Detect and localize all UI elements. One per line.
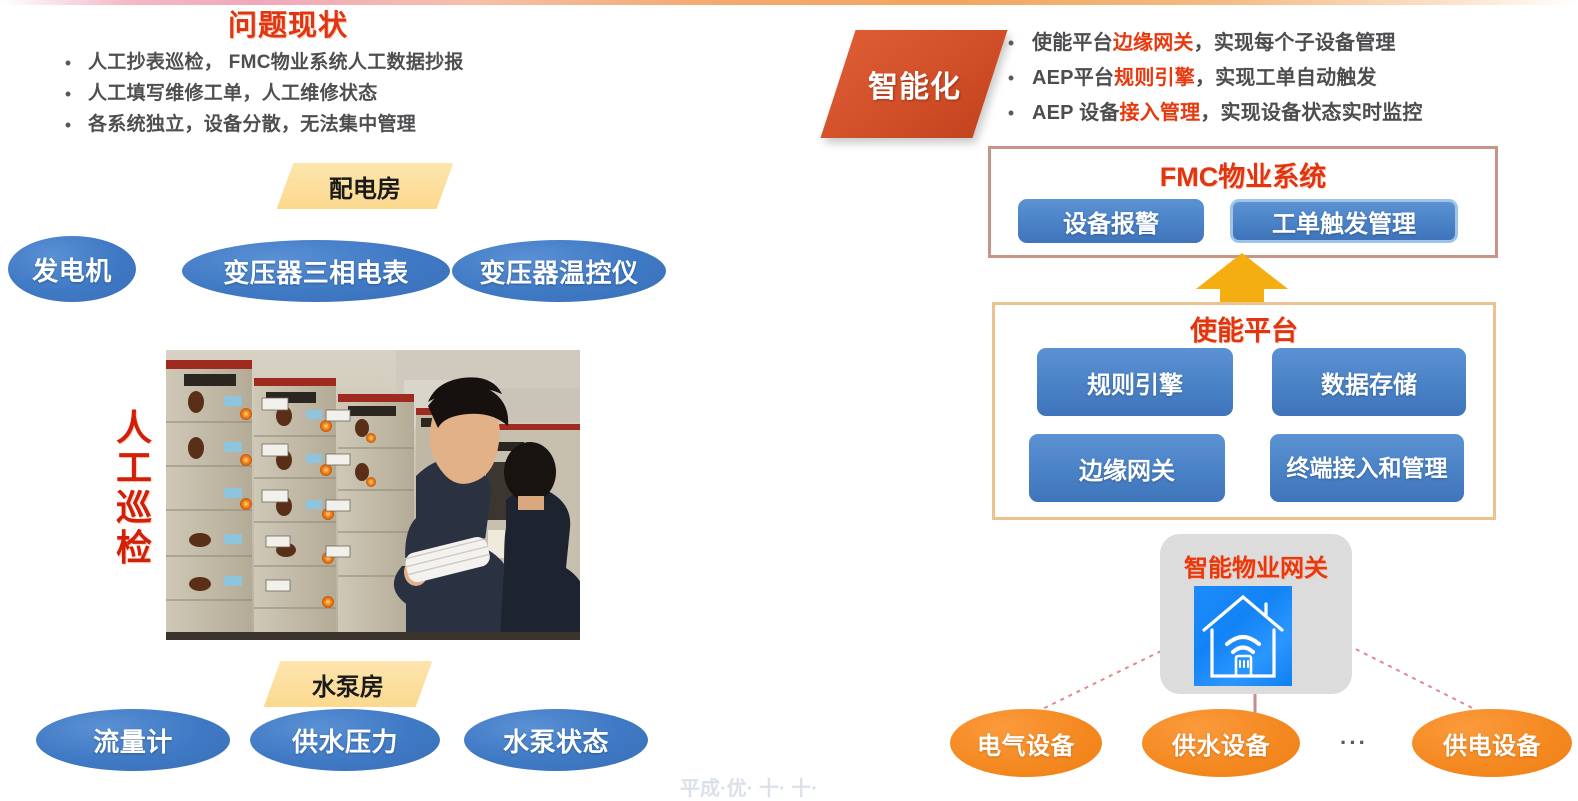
list-item: • 使能平台边缘网关，实现每个子设备管理 bbox=[990, 30, 1550, 56]
list-item-label: AEP 设备接入管理，实现设备状态实时监控 bbox=[1032, 100, 1423, 126]
node-transformer-temp-controller-label: 变压器温控仪 bbox=[479, 253, 638, 290]
node-transformer-3phase-meter-label: 变压器三相电表 bbox=[223, 253, 409, 290]
node-flow-meter-label: 流量计 bbox=[93, 722, 173, 759]
node-pump-status-label: 水泵状态 bbox=[503, 722, 609, 759]
platform-button-edge-gateway-label: 边缘网关 bbox=[1079, 451, 1175, 486]
list-item-post: ，实现每个子设备管理 bbox=[1194, 32, 1396, 54]
list-item-highlight: 规则引擎 bbox=[1114, 67, 1195, 89]
list-item: • 各系统独立，设备分散，无法集中管理 bbox=[48, 114, 668, 136]
fmc-button-workorder-trigger[interactable]: 工单触发管理 bbox=[1230, 199, 1458, 243]
fmc-system-title: FMC物业系统 bbox=[991, 155, 1495, 194]
bullet-dot-icon: • bbox=[48, 114, 88, 136]
enabling-platform-title: 使能平台 bbox=[995, 309, 1493, 348]
smart-home-wifi-icon bbox=[1194, 586, 1292, 686]
node-water-pressure[interactable]: 供水压力 bbox=[250, 709, 440, 771]
tag-power-room-label: 配电房 bbox=[329, 169, 401, 204]
list-item-pre: AEP 设备 bbox=[1032, 102, 1120, 124]
node-transformer-3phase-meter[interactable]: 变压器三相电表 bbox=[182, 240, 450, 302]
bullet-dot-icon: • bbox=[48, 52, 88, 74]
device-water-supply-label: 供水设备 bbox=[1172, 726, 1270, 761]
tag-pump-room: 水泵房 bbox=[264, 661, 433, 707]
problem-bullet-list: • 人工抄表巡检， FMC物业系统人工数据抄报 • 人工填写维修工单，人工维修状… bbox=[48, 52, 668, 145]
list-item-label: 人工抄表巡检， FMC物业系统人工数据抄报 bbox=[88, 52, 464, 74]
bullet-dot-icon: • bbox=[990, 65, 1032, 91]
list-item-pre: 使能平台 bbox=[1032, 32, 1113, 54]
list-item: • 人工抄表巡检， FMC物业系统人工数据抄报 bbox=[48, 52, 668, 74]
platform-button-rule-engine[interactable]: 规则引擎 bbox=[1037, 348, 1233, 416]
node-pump-status[interactable]: 水泵状态 bbox=[464, 709, 648, 771]
solution-bullet-list: • 使能平台边缘网关，实现每个子设备管理 • AEP平台规则引擎，实现工单自动触… bbox=[990, 30, 1550, 135]
intelligent-badge: 智能化 bbox=[820, 30, 1007, 138]
fmc-button-workorder-trigger-label: 工单触发管理 bbox=[1272, 204, 1416, 239]
list-item: • 人工填写维修工单，人工维修状态 bbox=[48, 83, 668, 105]
list-item-highlight: 边缘网关 bbox=[1113, 32, 1194, 54]
list-item-post: ，实现设备状态实时监控 bbox=[1200, 102, 1422, 124]
list-item-label: 各系统独立，设备分散，无法集中管理 bbox=[88, 114, 416, 136]
platform-button-terminal-access[interactable]: 终端接入和管理 bbox=[1270, 434, 1464, 502]
intelligent-badge-label: 智能化 bbox=[868, 62, 961, 106]
node-generator-label: 发电机 bbox=[32, 251, 112, 288]
list-item-pre: AEP平台 bbox=[1032, 67, 1114, 89]
node-transformer-temp-controller[interactable]: 变压器温控仪 bbox=[452, 240, 666, 302]
device-power-supply[interactable]: 供电设备 bbox=[1412, 709, 1572, 777]
list-item-label: 人工填写维修工单，人工维修状态 bbox=[88, 83, 378, 105]
bullet-dot-icon: • bbox=[48, 83, 88, 105]
manual-inspection-char: 检 bbox=[112, 528, 156, 568]
tag-power-room: 配电房 bbox=[277, 163, 454, 209]
manual-inspection-char: 人 bbox=[112, 408, 156, 448]
device-power-supply-label: 供电设备 bbox=[1443, 726, 1541, 761]
fmc-button-device-alarm-label: 设备报警 bbox=[1063, 204, 1159, 239]
node-generator[interactable]: 发电机 bbox=[8, 236, 136, 302]
up-arrow-icon bbox=[1196, 253, 1288, 308]
list-item: • AEP平台规则引擎，实现工单自动触发 bbox=[990, 65, 1550, 91]
slide-canvas: 问题现状 • 人工抄表巡检， FMC物业系统人工数据抄报 • 人工填写维修工单，… bbox=[0, 0, 1578, 791]
fmc-button-device-alarm[interactable]: 设备报警 bbox=[1018, 199, 1204, 243]
platform-button-data-storage[interactable]: 数据存储 bbox=[1272, 348, 1466, 416]
platform-button-terminal-access-label: 终端接入和管理 bbox=[1287, 454, 1448, 482]
platform-button-rule-engine-label: 规则引擎 bbox=[1087, 365, 1183, 400]
manual-inspection-label: 人工巡检 bbox=[112, 408, 156, 568]
list-item-label: AEP平台规则引擎，实现工单自动触发 bbox=[1032, 65, 1377, 91]
bottom-partial-text: 平成·优· 十· 十· bbox=[680, 772, 818, 801]
page-title: 问题现状 bbox=[228, 2, 348, 44]
manual-inspection-char: 工 bbox=[112, 448, 156, 488]
list-item-highlight: 接入管理 bbox=[1120, 102, 1201, 124]
platform-button-edge-gateway[interactable]: 边缘网关 bbox=[1029, 434, 1225, 502]
bullet-dot-icon: • bbox=[990, 100, 1032, 126]
platform-button-data-storage-label: 数据存储 bbox=[1321, 365, 1417, 400]
list-item-label: 使能平台边缘网关，实现每个子设备管理 bbox=[1032, 30, 1396, 56]
manual-inspection-photo bbox=[166, 350, 580, 640]
list-item: • AEP 设备接入管理，实现设备状态实时监控 bbox=[990, 100, 1550, 126]
device-electrical-label: 电气设备 bbox=[977, 726, 1075, 761]
tag-pump-room-label: 水泵房 bbox=[312, 667, 384, 702]
device-water-supply[interactable]: 供水设备 bbox=[1142, 709, 1300, 777]
node-water-pressure-label: 供水压力 bbox=[292, 722, 398, 759]
node-flow-meter[interactable]: 流量计 bbox=[36, 709, 230, 771]
smart-gateway-title: 智能物业网关 bbox=[1150, 548, 1362, 583]
devices-ellipsis: ··· bbox=[1340, 730, 1368, 756]
list-item-post: ，实现工单自动触发 bbox=[1195, 67, 1377, 89]
manual-inspection-char: 巡 bbox=[112, 488, 156, 528]
device-electrical[interactable]: 电气设备 bbox=[950, 709, 1102, 777]
bullet-dot-icon: • bbox=[990, 30, 1032, 56]
